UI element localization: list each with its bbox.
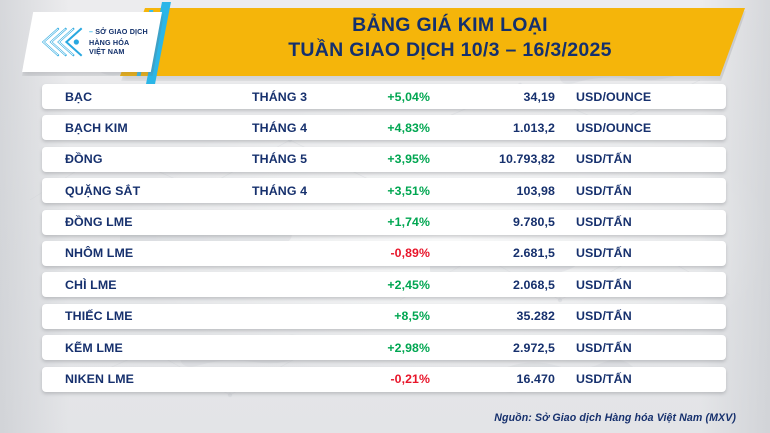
logo-line-2: HÀNG HÓA: [89, 38, 148, 48]
table-row[interactable]: THIẾC LME+8,5%35.282USD/TẤN: [42, 304, 726, 329]
price-change-percent: +2,98%: [322, 341, 430, 355]
price-change-percent: +3,95%: [322, 152, 430, 166]
price-unit: USD/TẤN: [576, 341, 632, 355]
table-row[interactable]: CHÌ LME+2,45%2.068,5USD/TẤN: [42, 272, 726, 297]
price-unit: USD/TẤN: [576, 215, 632, 229]
price-value: 103,98: [442, 184, 555, 198]
metal-name: QUẶNG SẮT: [65, 184, 140, 198]
price-unit: USD/OUNCE: [576, 121, 651, 135]
metal-name: ĐỒNG: [65, 152, 103, 166]
table-row[interactable]: BẠCH KIMTHÁNG 4+4,83%1.013,2USD/OUNCE: [42, 115, 726, 140]
title-line-2: TUẦN GIAO DỊCH 10/3 – 16/3/2025: [205, 38, 695, 64]
contract-month: THÁNG 4: [252, 121, 307, 135]
price-table: BẠCTHÁNG 3+5,04%34,19USD/OUNCEBẠCH KIMTH…: [0, 84, 770, 398]
logo-card: – SỞ GIAO DỊCH HÀNG HÓA VIỆT NAM: [22, 12, 162, 72]
contract-month: THÁNG 3: [252, 90, 307, 104]
table-row-wrapper: ĐỒNG LME+1,74%9.780,5USD/TẤN: [0, 210, 770, 241]
metal-name: BẠCH KIM: [65, 121, 128, 135]
price-value: 2.681,5: [442, 246, 555, 260]
table-row[interactable]: KẼM LME+2,98%2.972,5USD/TẤN: [42, 335, 726, 360]
table-row-wrapper: NHÔM LME-0,89%2.681,5USD/TẤN: [0, 241, 770, 272]
table-row[interactable]: NIKEN LME-0,21%16.470USD/TẤN: [42, 367, 726, 392]
metal-name: NIKEN LME: [65, 372, 134, 386]
price-change-percent: +5,04%: [322, 90, 430, 104]
table-row[interactable]: ĐỒNGTHÁNG 5+3,95%10.793,82USD/TẤN: [42, 147, 726, 172]
metal-name: BẠC: [65, 90, 92, 104]
metal-name: ĐỒNG LME: [65, 215, 133, 229]
table-row[interactable]: ĐỒNG LME+1,74%9.780,5USD/TẤN: [42, 210, 726, 235]
metal-name: THIẾC LME: [65, 309, 133, 323]
table-row-wrapper: NIKEN LME-0,21%16.470USD/TẤN: [0, 367, 770, 398]
page-title: BẢNG GIÁ KIM LOẠI TUẦN GIAO DỊCH 10/3 – …: [205, 13, 695, 64]
table-row-wrapper: KẼM LME+2,98%2.972,5USD/TẤN: [0, 335, 770, 366]
metal-name: CHÌ LME: [65, 278, 117, 292]
price-value: 10.793,82: [442, 152, 555, 166]
table-row-wrapper: CHÌ LME+2,45%2.068,5USD/TẤN: [0, 272, 770, 303]
price-unit: USD/OUNCE: [576, 90, 651, 104]
contract-month: THÁNG 4: [252, 184, 307, 198]
logo-tick-icon: –: [89, 29, 93, 36]
price-value: 35.282: [442, 309, 555, 323]
logo-wordmark: – SỞ GIAO DỊCH HÀNG HÓA VIỆT NAM: [89, 27, 148, 56]
table-row-wrapper: BẠCTHÁNG 3+5,04%34,19USD/OUNCE: [0, 84, 770, 115]
header: – SỞ GIAO DỊCH HÀNG HÓA VIỆT NAM BẢNG GI…: [0, 0, 770, 84]
price-unit: USD/TẤN: [576, 309, 632, 323]
logo-line-3: VIỆT NAM: [89, 47, 148, 57]
price-change-percent: +3,51%: [322, 184, 430, 198]
logo-line-1: SỞ GIAO DỊCH: [95, 27, 148, 36]
table-row[interactable]: NHÔM LME-0,89%2.681,5USD/TẤN: [42, 241, 726, 266]
price-value: 2.972,5: [442, 341, 555, 355]
table-row[interactable]: QUẶNG SẮTTHÁNG 4+3,51%103,98USD/TẤN: [42, 178, 726, 203]
price-unit: USD/TẤN: [576, 372, 632, 386]
table-row-wrapper: THIẾC LME+8,5%35.282USD/TẤN: [0, 304, 770, 335]
title-line-1: BẢNG GIÁ KIM LOẠI: [205, 13, 695, 38]
metal-name: KẼM LME: [65, 341, 123, 355]
price-unit: USD/TẤN: [576, 184, 632, 198]
price-change-percent: +4,83%: [322, 121, 430, 135]
price-value: 34,19: [442, 90, 555, 104]
price-change-percent: +2,45%: [322, 278, 430, 292]
mxv-chevron-logo-icon: [38, 25, 84, 59]
price-change-percent: +8,5%: [322, 309, 430, 323]
table-row-wrapper: BẠCH KIMTHÁNG 4+4,83%1.013,2USD/OUNCE: [0, 115, 770, 146]
price-value: 2.068,5: [442, 278, 555, 292]
price-change-percent: +1,74%: [322, 215, 430, 229]
price-value: 16.470: [442, 372, 555, 386]
source-note: Nguồn: Sở Giao dịch Hàng hóa Việt Nam (M…: [494, 412, 736, 424]
price-unit: USD/TẤN: [576, 152, 632, 166]
price-board-page: – SỞ GIAO DỊCH HÀNG HÓA VIỆT NAM BẢNG GI…: [0, 0, 770, 433]
table-row-wrapper: QUẶNG SẮTTHÁNG 4+3,51%103,98USD/TẤN: [0, 178, 770, 209]
price-change-percent: -0,89%: [322, 246, 430, 260]
price-unit: USD/TẤN: [576, 278, 632, 292]
table-row[interactable]: BẠCTHÁNG 3+5,04%34,19USD/OUNCE: [42, 84, 726, 109]
price-change-percent: -0,21%: [322, 372, 430, 386]
table-row-wrapper: ĐỒNGTHÁNG 5+3,95%10.793,82USD/TẤN: [0, 147, 770, 178]
metal-name: NHÔM LME: [65, 246, 133, 260]
contract-month: THÁNG 5: [252, 152, 307, 166]
price-unit: USD/TẤN: [576, 246, 632, 260]
price-value: 9.780,5: [442, 215, 555, 229]
price-value: 1.013,2: [442, 121, 555, 135]
